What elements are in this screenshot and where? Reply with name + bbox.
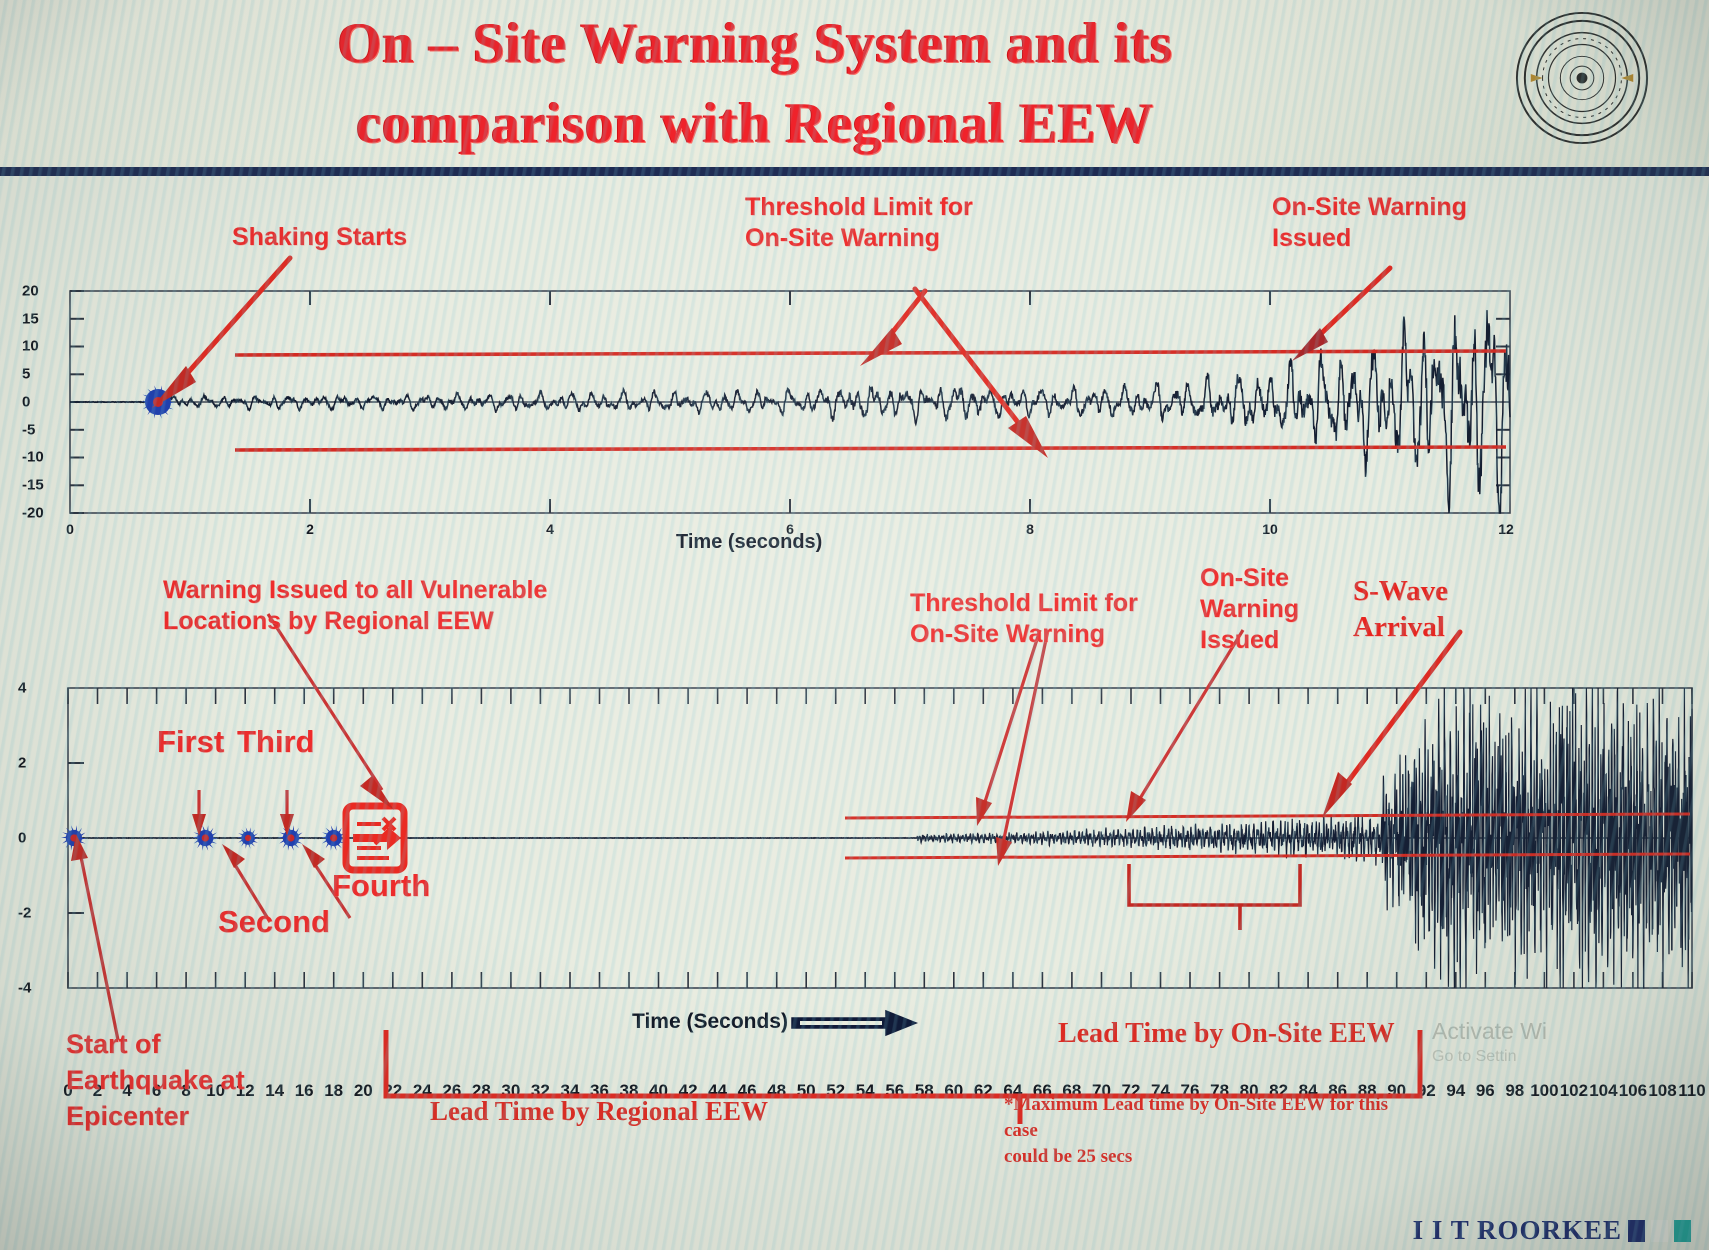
annotation-lead-time-onsite: Lead Time by On-Site EEW: [1058, 1018, 1395, 1050]
x-tick-top-8: 8: [1026, 521, 1034, 537]
y-tick-bottom-m2: -2: [18, 905, 58, 922]
x-tick-bottom-100: 100: [1530, 1081, 1558, 1101]
title-line-1: On – Site Warning System and its: [120, 4, 1390, 84]
annotation-onsite-warning-top-line2: Issued: [1272, 223, 1467, 254]
footnote-line2: could be 25 secs: [1004, 1144, 1424, 1170]
arrow-shaking-starts: [152, 258, 290, 408]
x-tick-bottom-106: 106: [1619, 1081, 1647, 1101]
x-tick-bottom-94: 94: [1446, 1081, 1465, 1101]
station-marker-second-station: [237, 827, 259, 848]
windows-activate-watermark-sub: Go to Settin: [1432, 1048, 1517, 1066]
annotation-fourth: Fourth: [332, 870, 430, 901]
y-tick-bottom-0: 0: [18, 830, 58, 847]
x-tick-bottom-96: 96: [1476, 1081, 1495, 1101]
annotation-regional-warning-line2: Locations by Regional EEW: [163, 606, 683, 637]
annotation-threshold-bottom: Threshold Limit for On-Site Warning: [910, 588, 1138, 650]
annotation-swave-arrival: S-Wave Arrival: [1353, 573, 1448, 645]
footer-square-white: [1651, 1220, 1668, 1242]
arrow-regional-warning: [268, 614, 394, 810]
threshold-line-lower-top: [235, 447, 1506, 450]
y-tick-top-10: 10: [22, 338, 60, 355]
y-tick-top-5: 5: [22, 366, 60, 383]
institute-footer-text: I I T ROORKEE: [1413, 1215, 1622, 1246]
seismic-trace-top: [70, 310, 1510, 513]
arrow-third: [280, 790, 294, 836]
arrow-onsite-warning-bottom: [1126, 630, 1243, 822]
annotation-onsite-warning-bottom: On-Site Warning Issued: [1200, 563, 1299, 656]
annotation-start-eq-line3: Epicenter: [66, 1098, 326, 1134]
annotation-start-earthquake: Start of Earthquake at Epicenter: [66, 1026, 326, 1134]
page-title: On – Site Warning System and its compari…: [120, 4, 1390, 164]
annotation-threshold-top-line2: On-Site Warning: [745, 223, 973, 254]
slide-header: On – Site Warning System and its compari…: [0, 0, 1709, 176]
y-tick-top-m5: -5: [22, 422, 60, 439]
annotation-regional-warning-line1: Warning Issued to all Vulnerable: [163, 575, 683, 606]
y-tick-top-m10: -10: [22, 449, 60, 466]
slide-canvas: On – Site Warning System and its compari…: [0, 0, 1709, 1250]
annotation-regional-warning: Warning Issued to all Vulnerable Locatio…: [163, 575, 683, 637]
x-tick-top-2: 2: [306, 521, 314, 537]
annotation-onsite-warning-top-line1: On-Site Warning: [1272, 192, 1467, 223]
annotation-shaking-starts: Shaking Starts: [232, 222, 407, 253]
x-tick-bottom-18: 18: [324, 1081, 343, 1101]
y-tick-top-0: 0: [22, 394, 60, 411]
annotation-third: Third: [237, 726, 315, 757]
regional-warning-box-icon: [346, 806, 404, 870]
x-tick-bottom-98: 98: [1505, 1081, 1524, 1101]
y-tick-top-m15: -15: [22, 477, 60, 494]
station-marker-first-station: [192, 825, 218, 850]
footnote-line1: *Maximum Lead time by On-Site EEW for th…: [1004, 1092, 1424, 1144]
x-tick-bottom-104: 104: [1589, 1081, 1617, 1101]
x-tick-bottom-102: 102: [1560, 1081, 1588, 1101]
x-tick-top-4: 4: [546, 521, 554, 537]
footer-square-teal: [1674, 1220, 1691, 1242]
arrow-start-earthquake: [71, 834, 118, 1040]
annotation-onsite-warning-bottom-line2: Warning: [1200, 594, 1299, 625]
annotation-onsite-warning-bottom-line1: On-Site: [1200, 563, 1299, 594]
annotation-swave-line1: S-Wave: [1353, 573, 1448, 609]
annotation-onsite-warning-top: On-Site Warning Issued: [1272, 192, 1467, 254]
annotation-onsite-warning-bottom-line3: Issued: [1200, 625, 1299, 656]
x-tick-bottom-108: 108: [1648, 1081, 1676, 1101]
title-line-2: comparison with Regional EEW: [120, 84, 1390, 164]
windows-activate-watermark: Activate Wi: [1432, 1018, 1547, 1045]
y-tick-top-20: 20: [22, 283, 60, 300]
annotation-threshold-top-line1: Threshold Limit for: [745, 192, 973, 223]
x-tick-bottom-110: 110: [1678, 1081, 1705, 1101]
x-tick-top-10: 10: [1262, 521, 1278, 537]
lead-time-onsite-brace: [1129, 864, 1300, 930]
y-tick-top-m20: -20: [22, 505, 60, 522]
station-marker-third-station: [278, 825, 304, 850]
iit-roorkee-logo-icon: [1513, 8, 1651, 148]
arrow-threshold-top: [860, 289, 1048, 458]
annotation-threshold-bottom-line2: On-Site Warning: [910, 619, 1138, 650]
annotation-start-eq-line2: Earthquake at: [66, 1062, 326, 1098]
institute-footer: I I T ROORKEE: [1413, 1215, 1691, 1246]
y-tick-bottom-m4: -4: [18, 980, 58, 997]
x-tick-top-12: 12: [1498, 521, 1514, 537]
x-axis-label-top: Time (seconds): [676, 531, 822, 554]
annotation-swave-line2: Arrival: [1353, 609, 1448, 645]
x-tick-bottom-20: 20: [354, 1081, 373, 1101]
annotation-lead-time-regional: Lead Time by Regional EEW: [430, 1096, 768, 1127]
annotation-start-eq-line1: Start of: [66, 1026, 326, 1062]
annotation-threshold-top: Threshold Limit for On-Site Warning: [745, 192, 973, 254]
annotation-second: Second: [218, 906, 330, 937]
arrow-threshold-bottom: [976, 630, 1048, 866]
y-tick-top-15: 15: [22, 311, 60, 328]
footer-square-blue: [1628, 1220, 1645, 1242]
y-tick-bottom-4: 4: [18, 680, 58, 697]
annotation-first: First: [157, 726, 224, 757]
x-tick-top-0: 0: [66, 521, 74, 537]
annotation-footnote: *Maximum Lead time by On-Site EEW for th…: [1004, 1092, 1424, 1170]
annotation-threshold-bottom-line1: Threshold Limit for: [910, 588, 1138, 619]
y-tick-bottom-2: 2: [18, 755, 58, 772]
arrow-onsite-warning-top: [1292, 268, 1390, 361]
